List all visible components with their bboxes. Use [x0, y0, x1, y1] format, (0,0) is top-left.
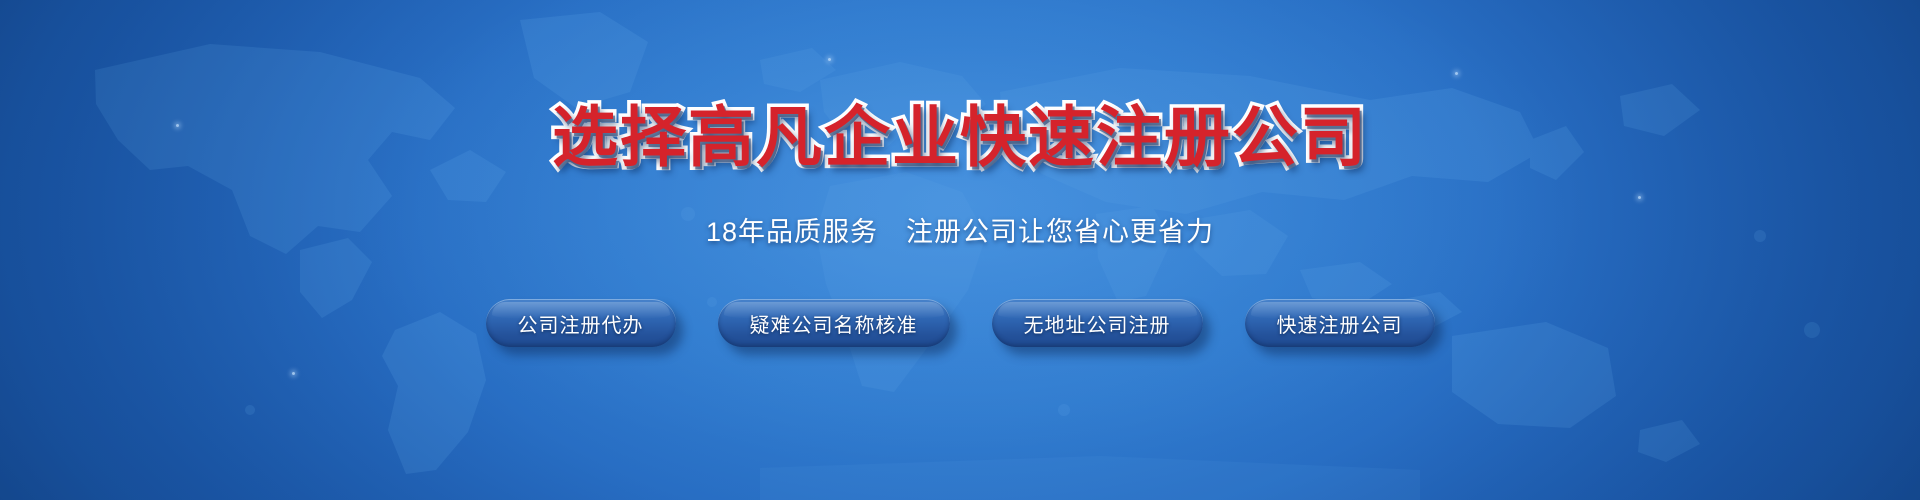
service-button-fast-registration[interactable]: 快速注册公司	[1245, 299, 1435, 347]
banner-headline: 选择高凡企业快速注册公司	[552, 104, 1368, 170]
service-button-row: 公司注册代办 疑难公司名称核准 无地址公司注册 快速注册公司	[486, 299, 1435, 347]
service-button-difficult-name-approval[interactable]: 疑难公司名称核准	[718, 299, 950, 347]
banner-content: 选择高凡企业快速注册公司 18年品质服务 注册公司让您省心更省力 公司注册代办 …	[0, 0, 1920, 500]
promo-banner: 选择高凡企业快速注册公司 18年品质服务 注册公司让您省心更省力 公司注册代办 …	[0, 0, 1920, 500]
banner-subheadline: 18年品质服务 注册公司让您省心更省力	[706, 210, 1214, 249]
service-button-company-registration-agency[interactable]: 公司注册代办	[486, 299, 676, 347]
service-button-no-address-registration[interactable]: 无地址公司注册	[992, 299, 1203, 347]
